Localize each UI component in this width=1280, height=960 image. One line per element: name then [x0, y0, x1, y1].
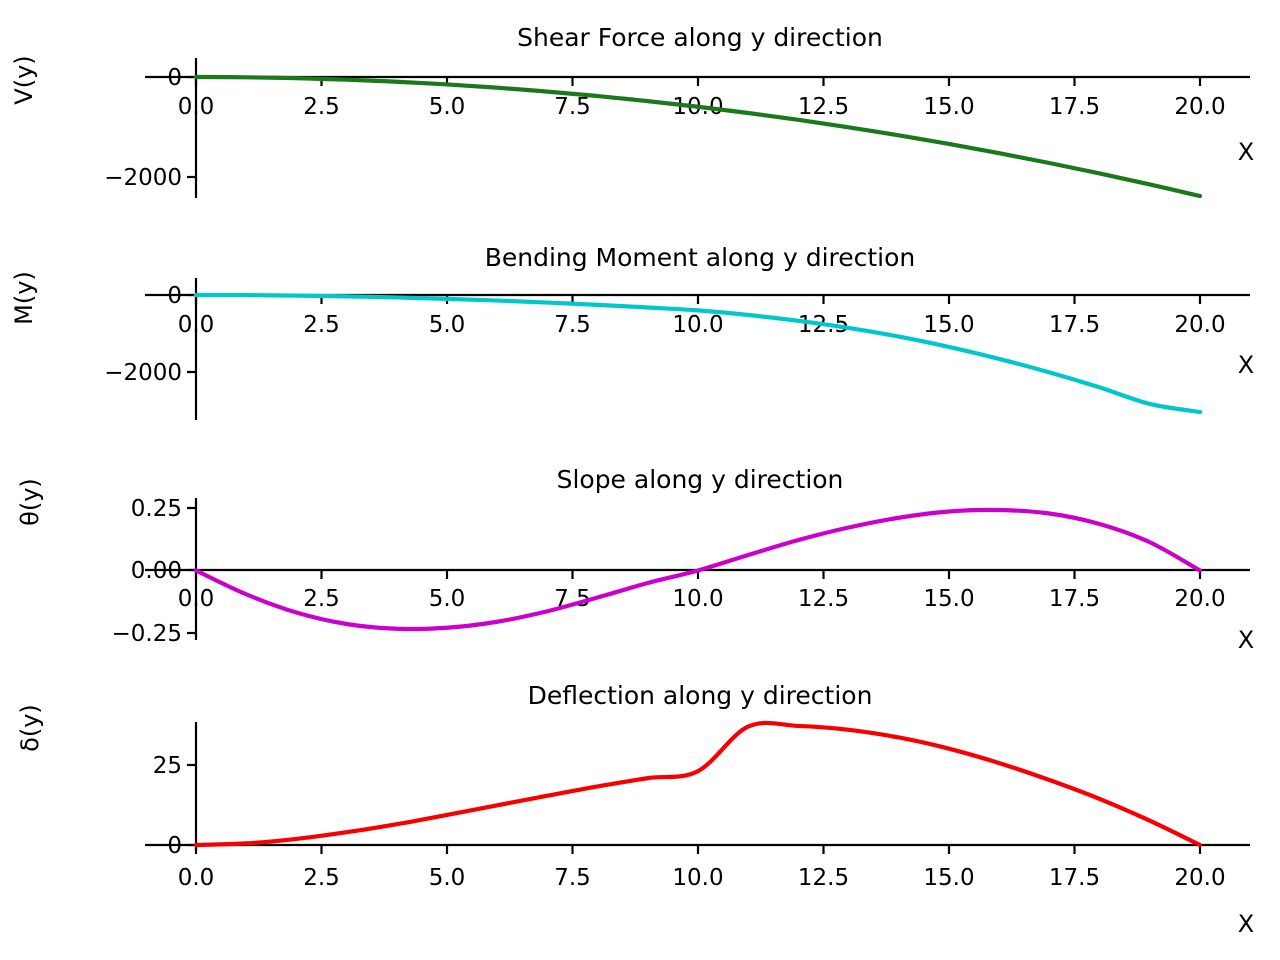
y-tick-label: 0 [167, 283, 182, 309]
y-axis-label: V(y) [10, 55, 38, 104]
x-tick-label: 12.5 [798, 94, 849, 120]
x-tick-label: 15.0 [923, 312, 974, 338]
y-tick-label: 25 [153, 753, 182, 779]
x-tick-label: 10.0 [672, 865, 723, 891]
plot-area-deflection: Deflection along y directionδ(y)0.02.55.… [0, 660, 1280, 960]
y-tick-label: −2000 [104, 165, 182, 191]
plot-area-shear-force: Shear Force along y directionV(y)0.02.55… [0, 0, 1280, 240]
x-tick-label: 5.0 [429, 865, 466, 891]
x-tick-label: 20.0 [1174, 94, 1225, 120]
y-tick-label: −2000 [104, 360, 182, 386]
y-axis-label: M(y) [10, 271, 38, 325]
x-tick-label: 0.0 [178, 865, 215, 891]
plot-area-slope: Slope along y directionθ(y)0.02.55.07.51… [0, 440, 1280, 670]
plot-area-bending-moment: Bending Moment along y directionM(y)0.02… [0, 220, 1280, 450]
x-tick-label: 20.0 [1174, 865, 1225, 891]
x-axis-label: X [1238, 910, 1254, 938]
subplot-bending-moment: Bending Moment along y directionM(y)0.02… [0, 220, 1280, 450]
x-tick-label: 7.5 [554, 865, 591, 891]
x-tick-label: 20.0 [1174, 586, 1225, 612]
x-axis-label: X [1238, 626, 1254, 654]
x-tick-label: 12.5 [798, 586, 849, 612]
x-tick-label: 2.5 [303, 865, 340, 891]
x-tick-label: 15.0 [923, 94, 974, 120]
x-tick-label: 15.0 [923, 586, 974, 612]
subplot-title: Deflection along y direction [528, 681, 873, 710]
y-axis-label: θ(y) [16, 478, 44, 526]
subplot-deflection: Deflection along y directionδ(y)0.02.55.… [0, 660, 1280, 960]
x-tick-label: 20.0 [1174, 312, 1225, 338]
y-axis-label: δ(y) [16, 704, 44, 752]
x-axis-label: X [1238, 138, 1254, 166]
x-tick-label: 2.5 [303, 94, 340, 120]
x-tick-label: 0.0 [178, 94, 215, 120]
subplot-shear-force: Shear Force along y directionV(y)0.02.55… [0, 0, 1280, 240]
x-tick-label: 5.0 [429, 312, 466, 338]
subplot-title: Shear Force along y direction [517, 23, 883, 52]
x-tick-label: 2.5 [303, 586, 340, 612]
x-tick-label: 0.0 [178, 312, 215, 338]
subplot-title: Slope along y direction [557, 465, 844, 494]
y-tick-label: 0 [167, 833, 182, 859]
x-tick-label: 7.5 [554, 312, 591, 338]
x-tick-label: 0.0 [178, 586, 215, 612]
subplot-title: Bending Moment along y direction [485, 243, 916, 272]
y-tick-label: 0.00 [131, 558, 182, 584]
subplot-slope: Slope along y directionθ(y)0.02.55.07.51… [0, 440, 1280, 670]
y-tick-label: −0.25 [112, 621, 182, 647]
y-tick-label: 0 [167, 65, 182, 91]
x-tick-label: 17.5 [1049, 94, 1100, 120]
x-tick-label: 2.5 [303, 312, 340, 338]
x-tick-label: 17.5 [1049, 312, 1100, 338]
x-tick-label: 15.0 [923, 865, 974, 891]
data-curve-deflection [196, 723, 1200, 845]
x-tick-label: 10.0 [672, 586, 723, 612]
x-tick-label: 17.5 [1049, 586, 1100, 612]
y-tick-label: 0.25 [131, 496, 182, 522]
x-tick-label: 7.5 [554, 94, 591, 120]
x-tick-label: 12.5 [798, 865, 849, 891]
figure-canvas: Shear Force along y directionV(y)0.02.55… [0, 0, 1280, 960]
x-tick-label: 10.0 [672, 312, 723, 338]
x-tick-label: 17.5 [1049, 865, 1100, 891]
x-tick-label: 5.0 [429, 586, 466, 612]
x-axis-label: X [1238, 351, 1254, 379]
x-tick-label: 5.0 [429, 94, 466, 120]
